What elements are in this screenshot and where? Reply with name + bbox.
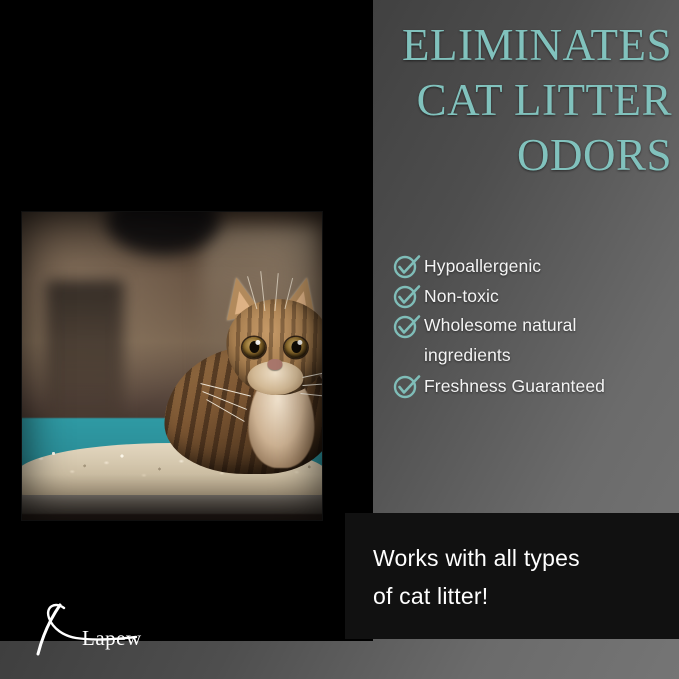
caption-panel: Works with all types of cat litter! xyxy=(345,513,679,639)
benefits-list: Hypoallergenic Non-toxic Wholesome natur… xyxy=(392,252,674,402)
list-item-continuation: ingredients xyxy=(392,342,674,370)
page-title: ELIMINATES CAT LITTER ODORS xyxy=(300,18,672,183)
list-item: Hypoallergenic xyxy=(392,252,674,280)
check-circle-icon xyxy=(392,253,424,279)
caption-line-2: of cat litter! xyxy=(373,577,679,615)
caption-line-1: Works with all types xyxy=(373,539,679,577)
list-item: Freshness Guaranteed xyxy=(392,372,674,400)
kitten-photo xyxy=(22,212,322,520)
kitten-eye-right xyxy=(284,337,307,358)
kitten-photo-canvas xyxy=(22,212,322,520)
benefit-label: Wholesome natural xyxy=(424,312,576,338)
benefit-label: Non-toxic xyxy=(424,282,499,310)
headline-line-1: ELIMINATES xyxy=(300,18,672,73)
bullet-spacer xyxy=(392,343,424,369)
headline-line-3: ODORS xyxy=(300,128,672,183)
benefit-label: Hypoallergenic xyxy=(424,252,541,280)
kitten-eye-left xyxy=(242,337,265,358)
list-item: Non-toxic xyxy=(392,282,674,310)
headline-line-2: CAT LITTER xyxy=(300,73,672,128)
brand-logo: Lapew xyxy=(24,596,174,658)
kitten-figure xyxy=(164,259,322,474)
product-ad-image: ELIMINATES CAT LITTER ODORS xyxy=(0,0,679,679)
check-circle-icon xyxy=(392,313,424,339)
kitten-nose xyxy=(267,359,282,370)
list-item: Wholesome natural xyxy=(392,312,674,340)
check-circle-icon xyxy=(392,283,424,309)
check-circle-icon xyxy=(392,373,424,399)
benefit-label-continued: ingredients xyxy=(424,342,511,368)
photo-blurred-doorway xyxy=(46,280,124,422)
logo-wordmark: Lapew xyxy=(82,626,142,651)
benefit-label: Freshness Guaranteed xyxy=(424,372,605,400)
